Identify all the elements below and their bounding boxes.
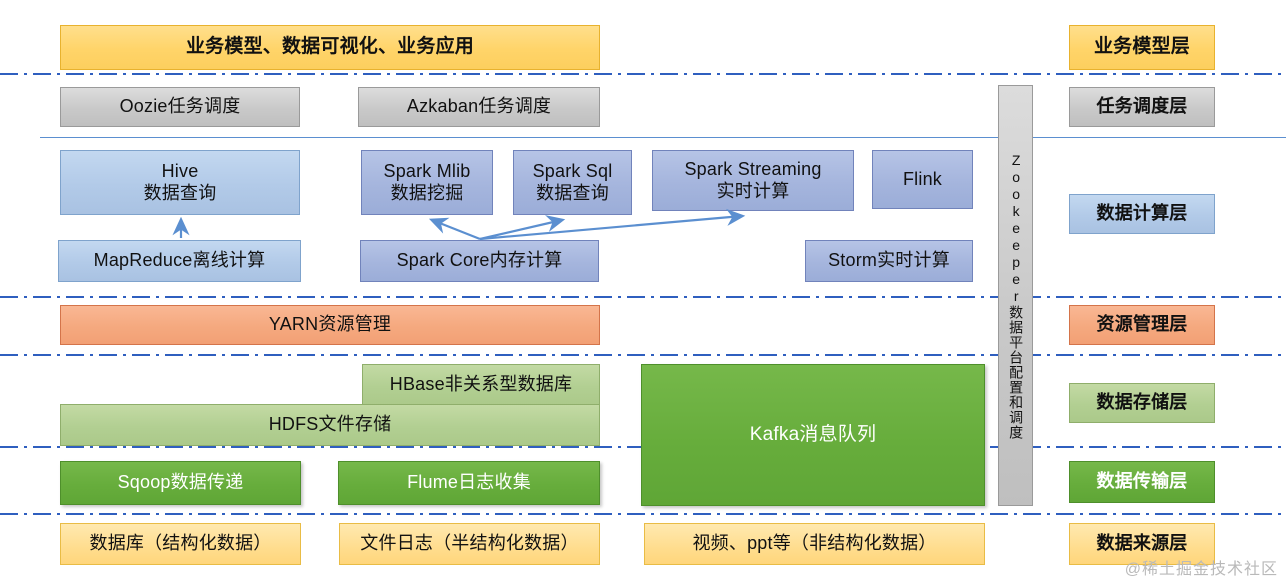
edge-sparkcore-to-sparksql	[480, 220, 562, 239]
node-hive[interactable]: Hive 数据查询	[60, 150, 300, 215]
layer-label-transport[interactable]: 数据传输层	[1069, 461, 1215, 503]
edge-sparkcore-to-sparkstreaming	[480, 216, 742, 239]
layer-label-storage[interactable]: 数据存储层	[1069, 383, 1215, 423]
node-mapreduce[interactable]: MapReduce离线计算	[58, 240, 301, 282]
divider-business-schedule	[0, 73, 1286, 75]
node-spark-streaming[interactable]: Spark Streaming 实时计算	[652, 150, 854, 211]
divider-transport-source	[0, 513, 1286, 515]
node-business-app[interactable]: 业务模型、数据可视化、业务应用	[60, 25, 600, 70]
node-source-database[interactable]: 数据库（结构化数据）	[60, 523, 301, 565]
layer-label-business[interactable]: 业务模型层	[1069, 25, 1215, 70]
edge-sparkcore-to-sparkmlib	[432, 220, 480, 239]
node-zookeeper[interactable]: Zookeeper数据平台配置和调度	[998, 85, 1033, 506]
node-hdfs[interactable]: HDFS文件存储	[60, 404, 600, 446]
divider-schedule-compute	[40, 137, 1286, 138]
layer-label-resource[interactable]: 资源管理层	[1069, 305, 1215, 345]
node-spark-mlib[interactable]: Spark Mlib 数据挖掘	[361, 150, 493, 215]
node-spark-core[interactable]: Spark Core内存计算	[360, 240, 599, 282]
node-hbase[interactable]: HBase非关系型数据库	[362, 364, 600, 406]
layer-label-schedule[interactable]: 任务调度层	[1069, 87, 1215, 127]
node-spark-sql[interactable]: Spark Sql 数据查询	[513, 150, 632, 215]
node-source-media[interactable]: 视频、ppt等（非结构化数据）	[644, 523, 985, 565]
node-oozie[interactable]: Oozie任务调度	[60, 87, 300, 127]
node-yarn[interactable]: YARN资源管理	[60, 305, 600, 345]
layer-label-compute[interactable]: 数据计算层	[1069, 194, 1215, 234]
divider-resource-storage	[0, 354, 1286, 356]
node-flume[interactable]: Flume日志收集	[338, 461, 600, 505]
architecture-diagram: 业务模型、数据可视化、业务应用 业务模型层 Oozie任务调度 Azkaban任…	[0, 0, 1286, 581]
divider-compute-resource	[0, 296, 1286, 298]
node-kafka[interactable]: Kafka消息队列	[641, 364, 985, 506]
node-azkaban[interactable]: Azkaban任务调度	[358, 87, 600, 127]
node-sqoop[interactable]: Sqoop数据传递	[60, 461, 301, 505]
node-source-filelog[interactable]: 文件日志（半结构化数据）	[339, 523, 600, 565]
node-flink[interactable]: Flink	[872, 150, 973, 209]
watermark: @稀土掘金技术社区	[1125, 555, 1278, 579]
zookeeper-label: Zookeeper数据平台配置和调度	[1006, 152, 1025, 440]
node-storm[interactable]: Storm实时计算	[805, 240, 973, 282]
